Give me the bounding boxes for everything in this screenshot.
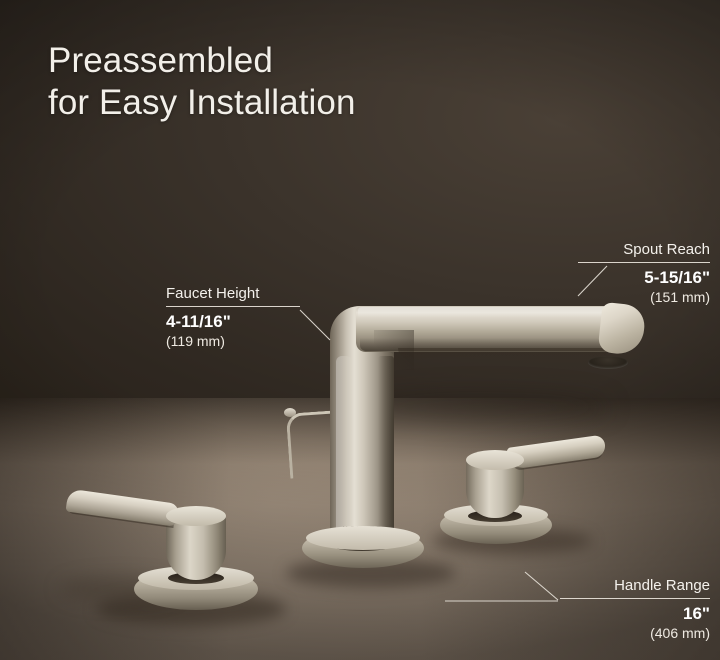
callout-title: Faucet Height [166, 284, 300, 303]
callout-value: 16" [560, 603, 710, 624]
callout-value: 5-15/16" [578, 267, 710, 288]
callout-value: 4-11/16" [166, 311, 300, 332]
callout-metric: (151 mm) [578, 288, 710, 306]
callout-metric: (406 mm) [560, 624, 710, 642]
callout-rule [578, 262, 710, 263]
product-hero-image: Preassembled for Easy Installation KOHLE… [0, 0, 720, 660]
callout-faucet-height: Faucet Height 4-11/16" (119 mm) [166, 284, 300, 350]
callout-rule [560, 598, 710, 599]
callout-rule [166, 306, 300, 307]
callout-title: Spout Reach [578, 240, 710, 259]
callout-handle-range: Handle Range 16" (406 mm) [560, 576, 710, 642]
callout-title: Handle Range [560, 576, 710, 595]
callout-metric: (119 mm) [166, 332, 300, 350]
callout-spout-reach: Spout Reach 5-15/16" (151 mm) [578, 240, 710, 306]
leader-lines [0, 0, 720, 660]
